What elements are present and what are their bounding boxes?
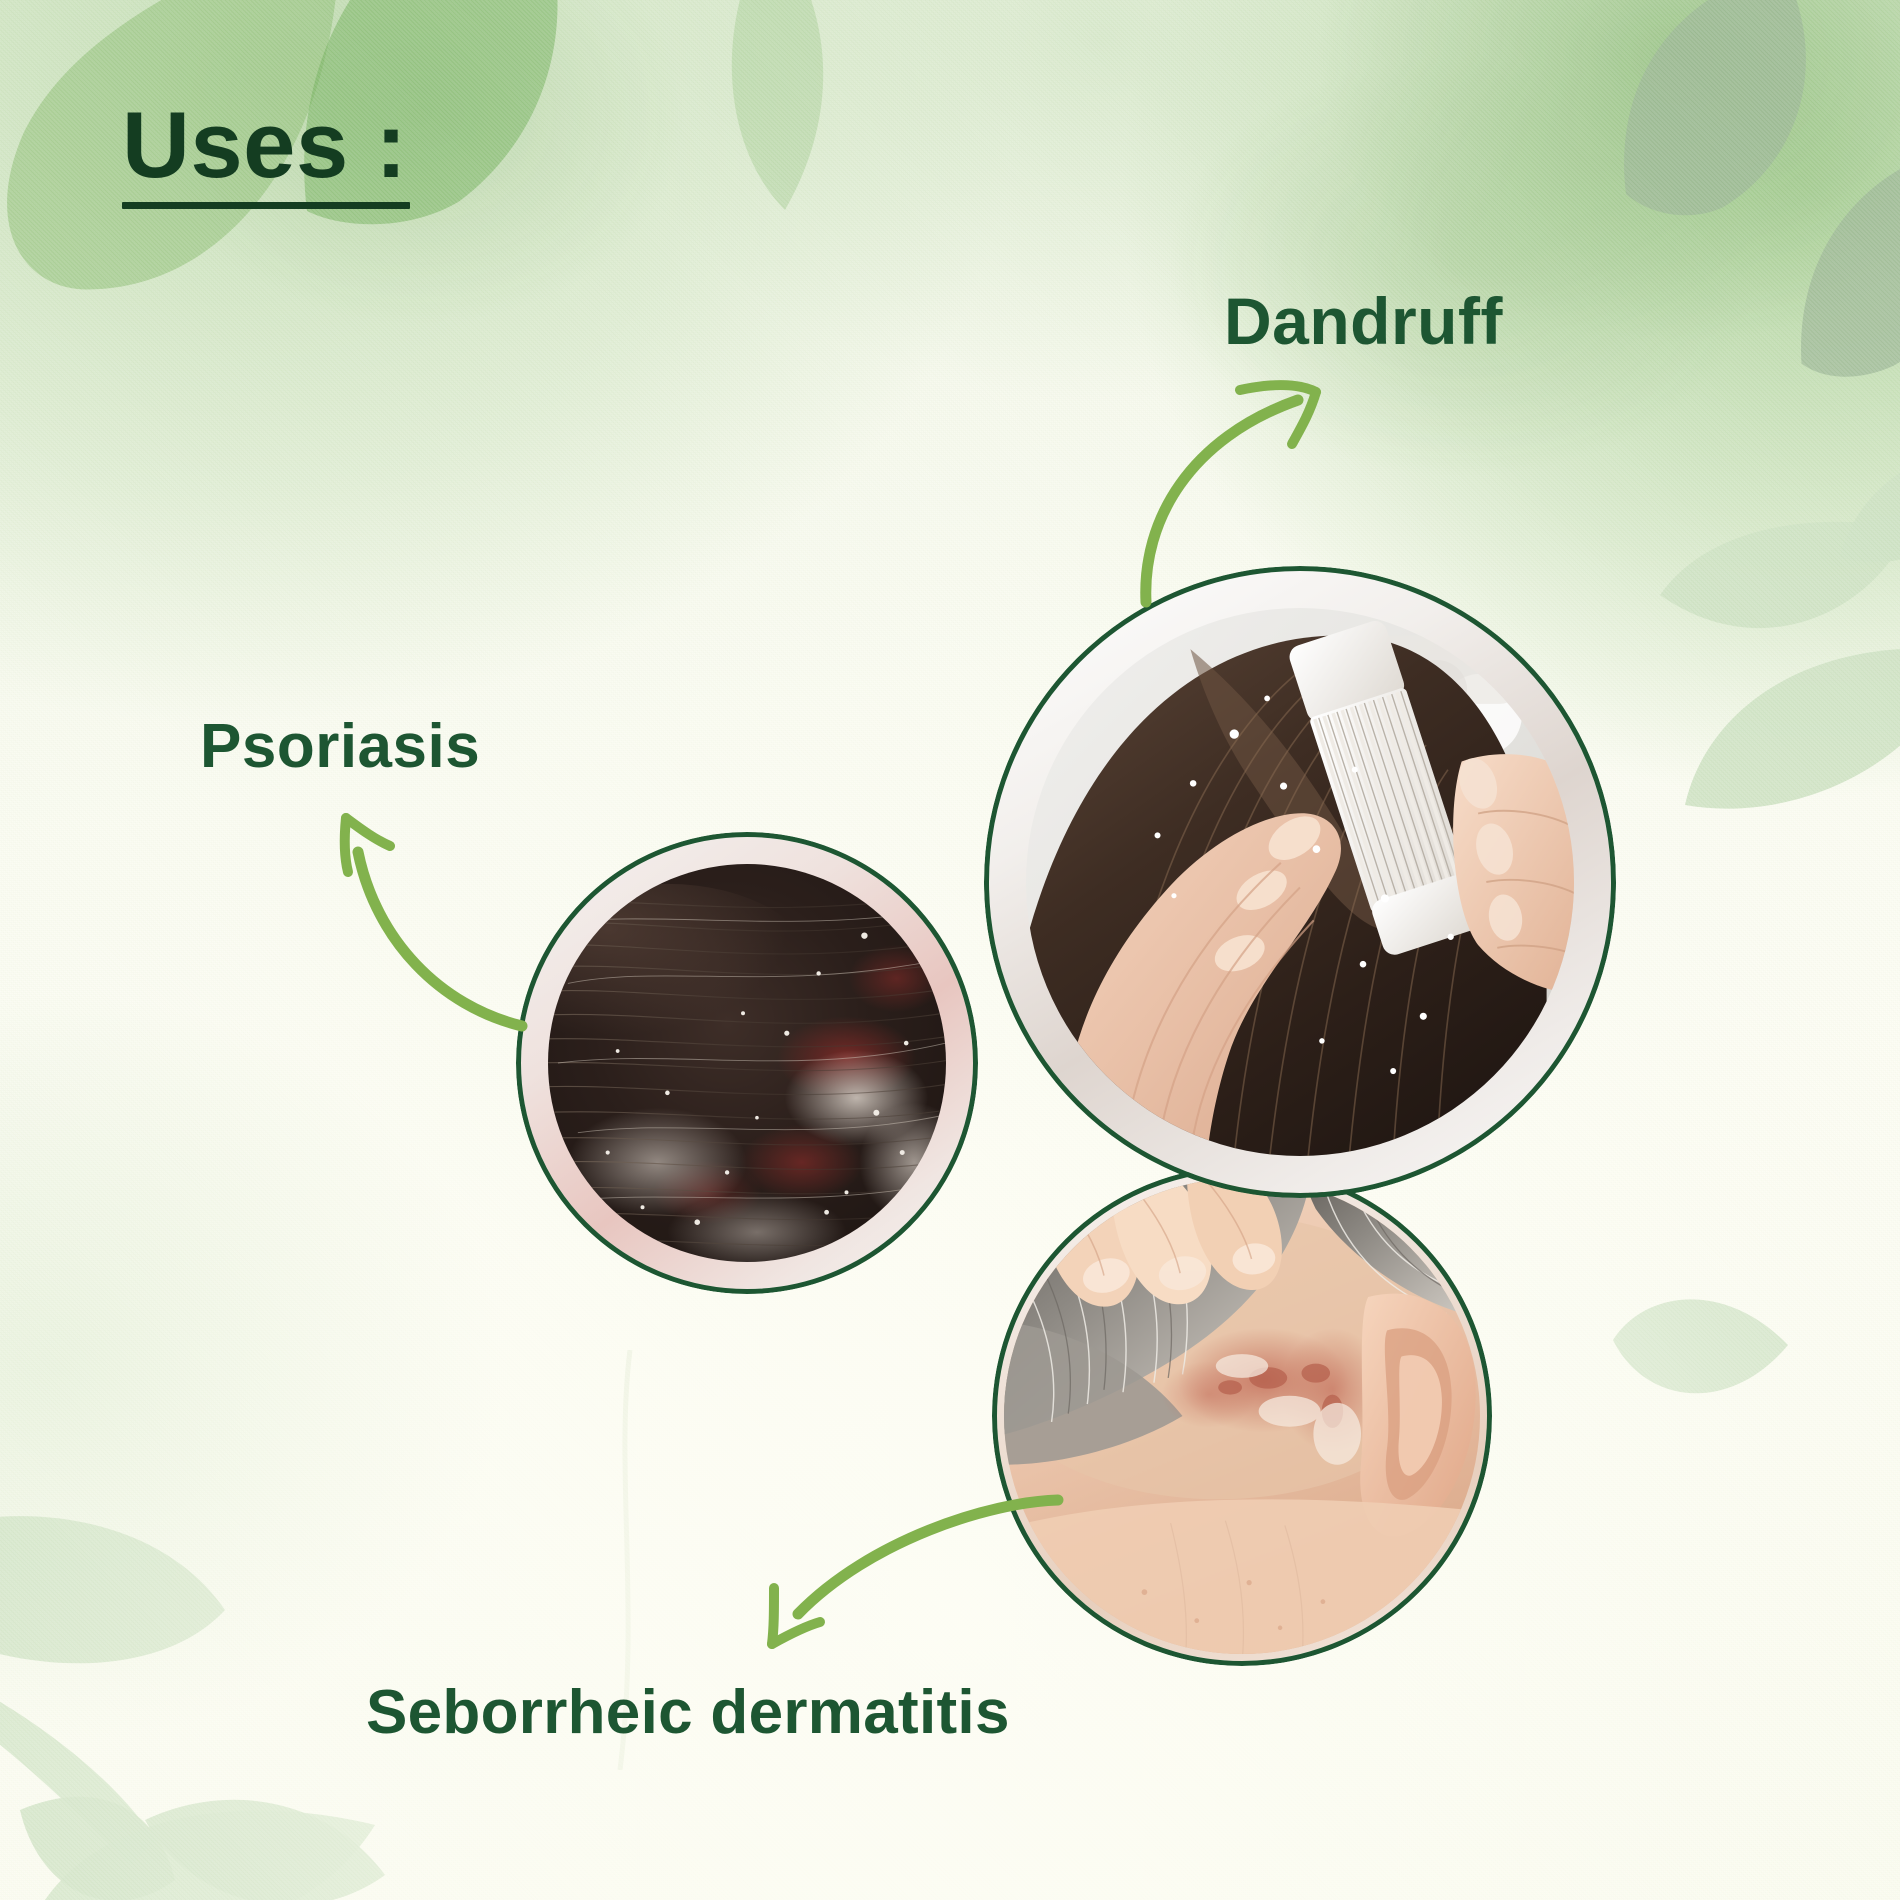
- photo-circle-seborrheic: [992, 1166, 1492, 1666]
- use-label-seborrheic: Seborrheic dermatitis: [366, 1682, 1010, 1744]
- photo-seborrheic-scalp: [1004, 1178, 1480, 1654]
- use-label-dandruff: Dandruff: [1224, 288, 1503, 354]
- background-wash-accent: [0, 0, 1900, 1900]
- use-label-psoriasis: Psoriasis: [200, 716, 480, 778]
- photo-circle-dandruff: [984, 566, 1616, 1198]
- poster-canvas: Uses :: [0, 0, 1900, 1900]
- photo-psoriasis-scalp: [548, 864, 946, 1262]
- title-underline: [122, 202, 410, 209]
- photo-circle-psoriasis: [516, 832, 978, 1294]
- photo-dandruff-combing: [1026, 608, 1574, 1156]
- page-title: Uses :: [122, 98, 410, 209]
- page-title-text: Uses :: [122, 98, 410, 192]
